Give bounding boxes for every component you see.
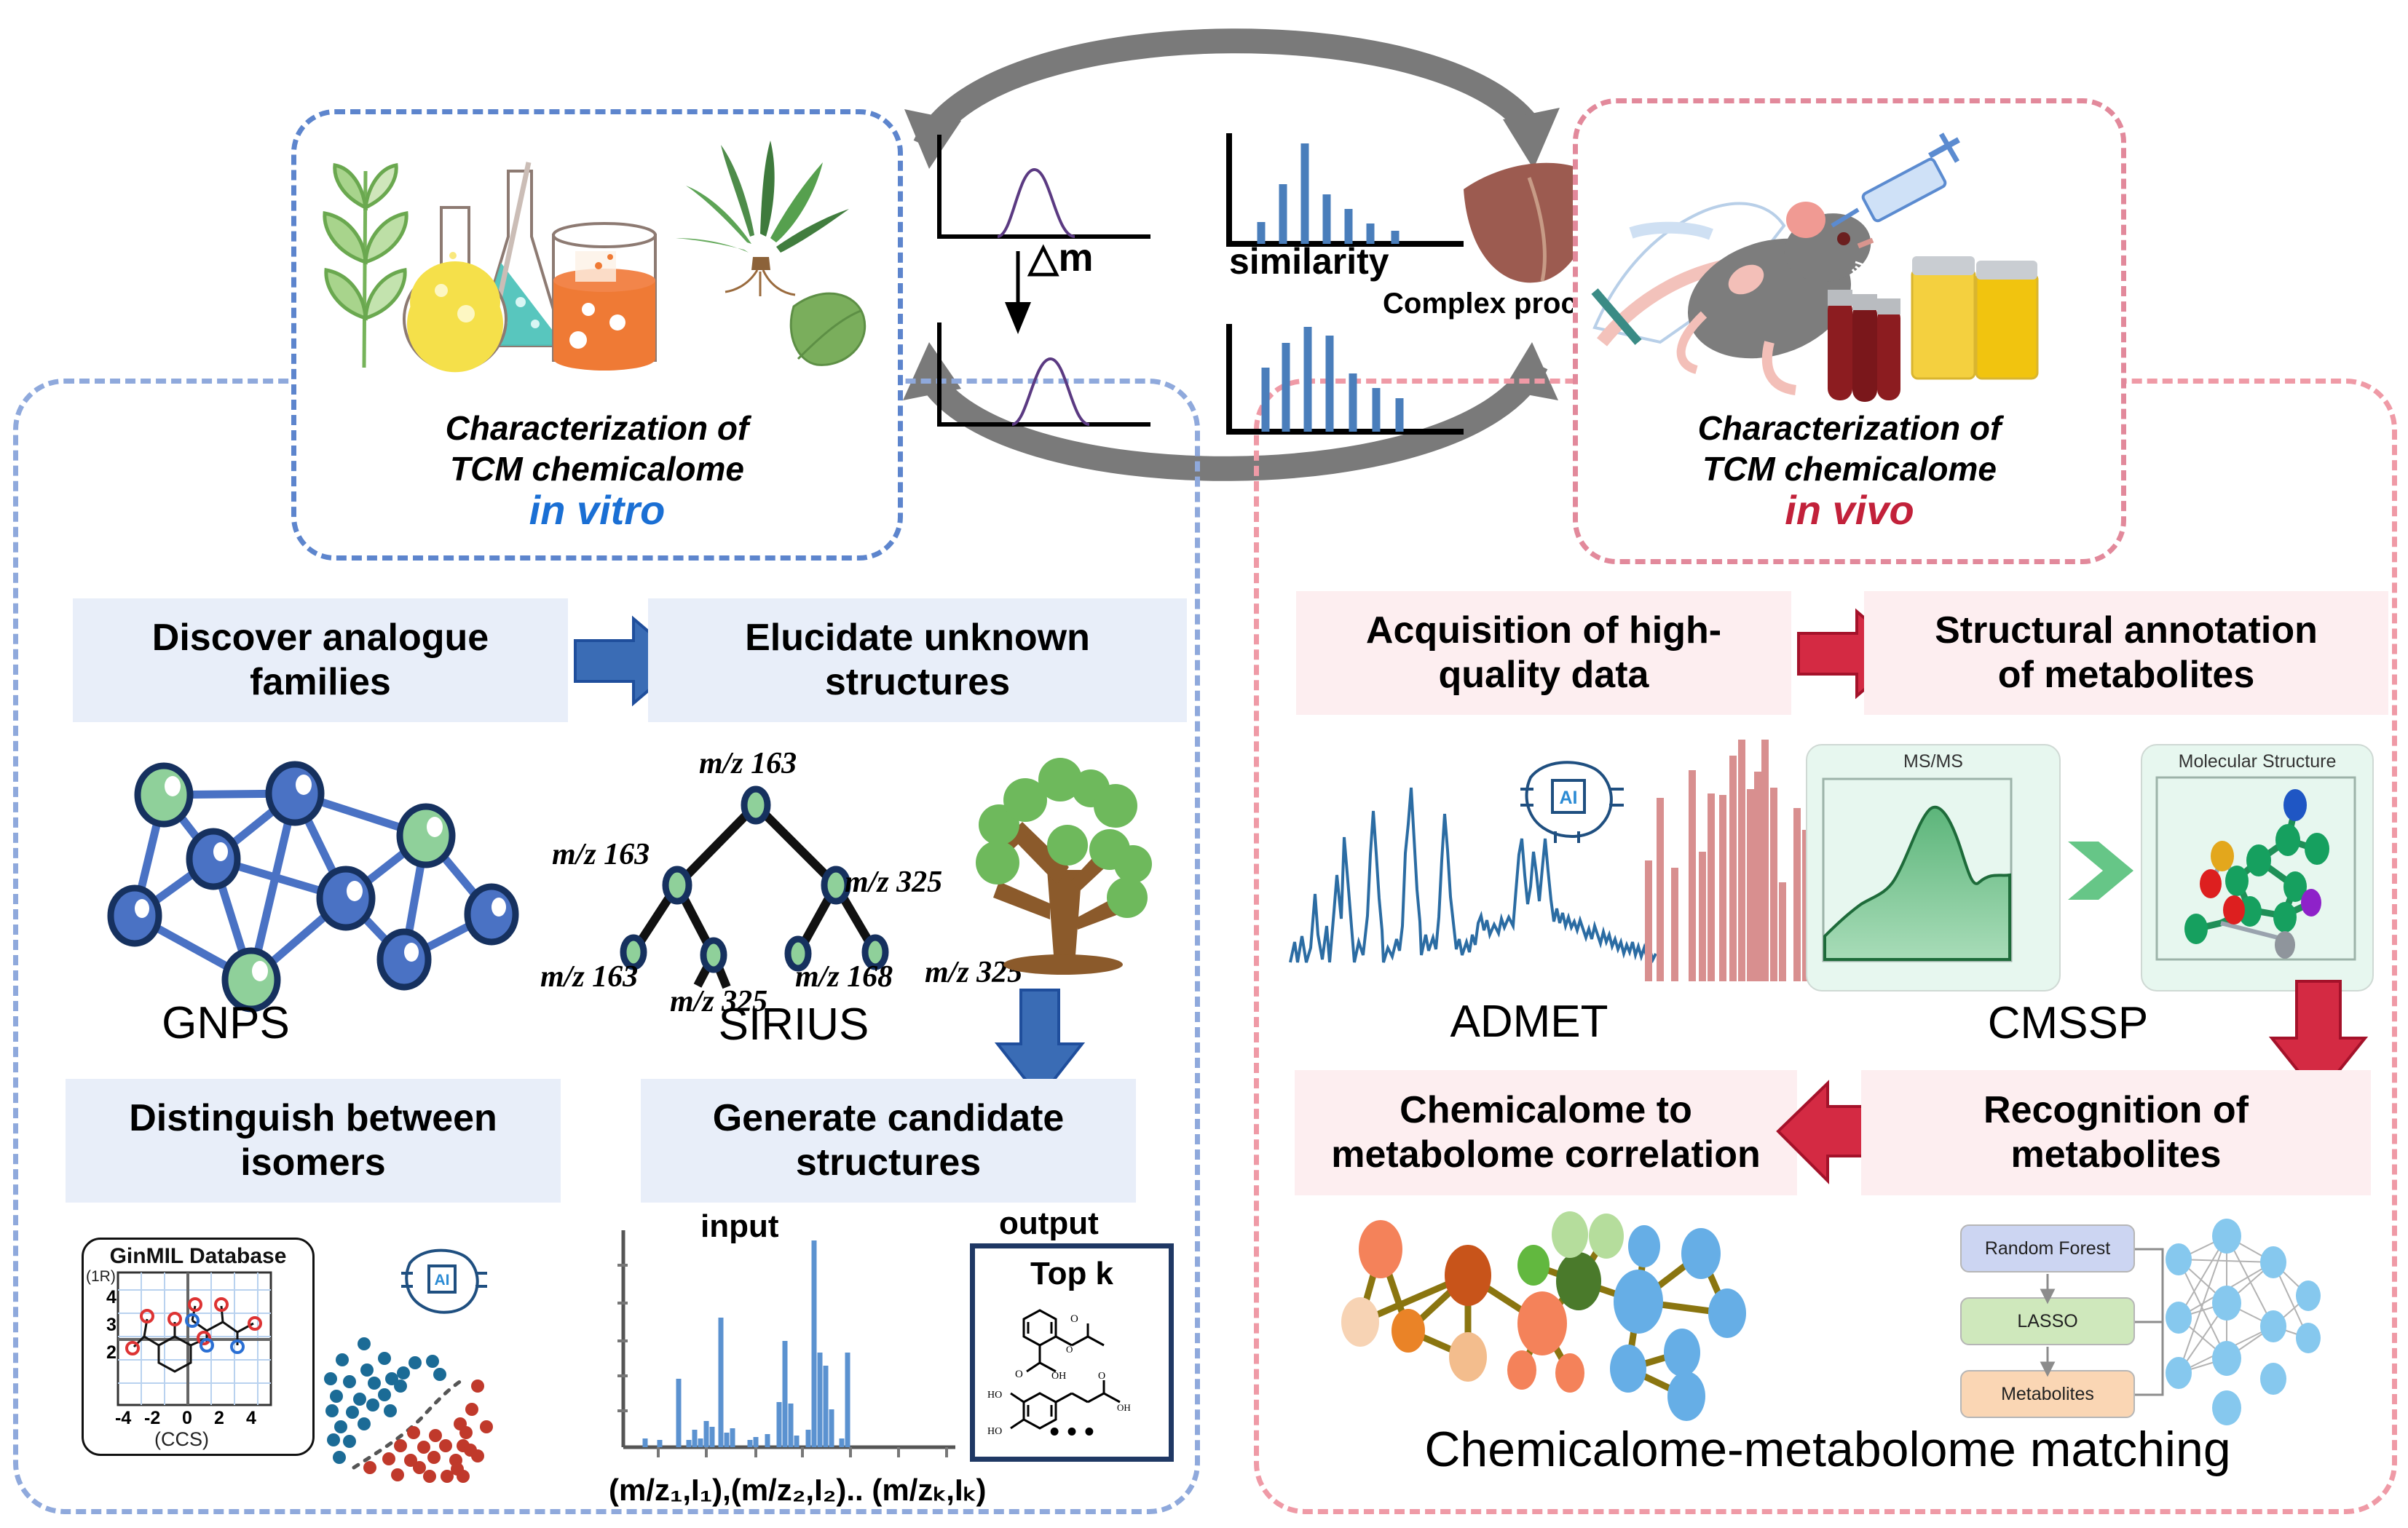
banner-line2: structures xyxy=(796,1141,981,1184)
banner-recognition-of-metabolites: Recognition of metabolites xyxy=(1861,1070,2371,1195)
banner-line1: Structural annotation xyxy=(1935,609,2318,652)
in-vivo-panel-title: Characterization of TCM chemicalome xyxy=(1587,408,2112,489)
banner-structural-annotation-of-metabolites: Structural annotation of metabolites xyxy=(1864,591,2388,715)
banner-line2: of metabolites xyxy=(1998,654,2255,696)
sirius-label: SIRIUS xyxy=(641,999,947,1050)
cmssp-structure-title: Molecular Structure xyxy=(2142,745,2372,772)
svg-text:O: O xyxy=(1070,1313,1078,1325)
in-vivo-title-line2: TCM chemicalome xyxy=(1587,448,2112,489)
banner-distinguish-between-isomers: Distinguish between isomers xyxy=(66,1079,561,1203)
banner-chemicalome-to-metabolome-correlation: Chemicalome to metabolome correlation xyxy=(1295,1070,1797,1195)
sirius-label-root: m/z 163 xyxy=(699,746,797,781)
in-vitro-illustration xyxy=(313,127,881,397)
gnps-network xyxy=(76,750,528,1026)
in-vitro-title-line1: Characterization of xyxy=(306,408,888,448)
banner-line1: Elucidate unknown xyxy=(745,617,1090,659)
banner-line1: Recognition of xyxy=(1983,1089,2249,1131)
cmssp-conversion-arrow xyxy=(2064,830,2144,910)
similarity-label: similarity xyxy=(1229,240,1389,282)
plant-icon xyxy=(325,165,406,368)
ginmil-ytick-4: 4 xyxy=(106,1287,117,1308)
banner-line2: metabolome correlation xyxy=(1331,1133,1760,1176)
banner-elucidate-unknown-structures: Elucidate unknown structures xyxy=(648,598,1187,722)
cmssp-msms-title: MS/MS xyxy=(1807,745,2059,772)
banner-line1: Chemicalome to xyxy=(1400,1089,1692,1131)
delta-m-label: △m xyxy=(1028,234,1094,280)
ginmil-ytick-3: 3 xyxy=(106,1315,117,1336)
ai-chip-icon-left: AI xyxy=(397,1241,492,1321)
candidate-input-label: input xyxy=(700,1208,779,1245)
aloe-plant-icon xyxy=(676,140,849,296)
banner-line2: structures xyxy=(825,661,1010,703)
leaf-icon xyxy=(791,293,864,365)
sirius-label-left: m/z 163 xyxy=(552,837,650,872)
cmssp-label: CMSSP xyxy=(1922,997,2214,1049)
similarity-top-bars xyxy=(1261,143,1395,244)
ginmil-xtick--2: -2 xyxy=(144,1408,160,1429)
ginmil-ytick-2: 2 xyxy=(106,1342,117,1363)
msms-area-plot xyxy=(1816,773,2048,984)
candidate-output-label: output xyxy=(999,1206,1099,1242)
svg-text:O: O xyxy=(1015,1369,1023,1380)
ginmil-xlabel: (CCS) xyxy=(154,1428,209,1451)
banner-line1: Generate candidate xyxy=(713,1097,1065,1139)
banner-line2: isomers xyxy=(240,1141,385,1184)
ai-chip-label: AI xyxy=(435,1272,450,1288)
blood-tube-icon xyxy=(1828,290,1900,402)
ginmil-ylabel: (1R) xyxy=(86,1268,116,1286)
in-vivo-title-line1: Characterization of xyxy=(1587,408,2112,448)
mass-shift-spectra xyxy=(932,127,1172,433)
in-vivo-illustration xyxy=(1587,124,2112,415)
sirius-label-leaf1: m/z 163 xyxy=(540,959,638,994)
banner-line1: Distinguish between xyxy=(129,1097,497,1139)
in-vitro-title-line2: TCM chemicalome xyxy=(306,448,888,489)
topk-ellipsis: • • • xyxy=(970,1417,1174,1448)
in-vivo-tag: in vivo xyxy=(1587,486,2112,534)
gnps-label: GNPS xyxy=(87,997,364,1049)
svg-text:O: O xyxy=(1066,1344,1073,1355)
molecule-3d-icon xyxy=(2152,773,2364,984)
urine-jar-icon xyxy=(1912,256,2037,379)
svg-text:OH: OH xyxy=(1117,1402,1131,1413)
sirius-label-right: m/z 325 xyxy=(845,865,942,900)
in-vitro-panel-title: Characterization of TCM chemicalome xyxy=(306,408,888,489)
syringe-icon xyxy=(1832,134,1959,226)
decorative-tree-icon xyxy=(961,746,1180,979)
ginmil-xtick-0: 0 xyxy=(182,1408,192,1429)
banner-acquisition-of-high-quality-data: Acquisition of high- quality data xyxy=(1296,591,1791,715)
banner-discover-analogue-families: Discover analogue families xyxy=(73,598,568,722)
beaker-icon xyxy=(553,223,655,371)
ai-chip-icon-right: AI xyxy=(1515,751,1631,846)
chemicalome-metabolome-network xyxy=(1338,1214,1892,1433)
banner-line2: families xyxy=(250,661,391,703)
sirius-label-leaf3: m/z 168 xyxy=(795,959,893,994)
candidate-input-spectrum xyxy=(613,1230,963,1470)
ml-pipeline-connectors xyxy=(1960,1216,2368,1434)
svg-text:O: O xyxy=(1098,1371,1105,1382)
admet-label: ADMET xyxy=(1398,996,1660,1048)
ginmil-xtick--4: -4 xyxy=(115,1408,131,1429)
chemicalome-metabolome-matching-caption: Chemicalome-metabolome matching xyxy=(1282,1421,2374,1478)
in-vitro-tag: in vitro xyxy=(306,486,888,534)
ai-chip-label-right: AI xyxy=(1560,788,1578,808)
ginmil-xtick-4: 4 xyxy=(246,1408,256,1429)
similarity-bottom-bars xyxy=(1266,327,1400,432)
candidate-peaklist-label: (m/z₁,I₁),(m/z₂,I₂).. (m/zₖ,Iₖ) xyxy=(609,1472,986,1508)
svg-text:OH: OH xyxy=(1051,1371,1066,1382)
banner-line2: quality data xyxy=(1439,654,1649,696)
banner-line1: Discover analogue xyxy=(152,617,489,659)
svg-text:HO: HO xyxy=(987,1390,1002,1401)
banner-generate-candidate-structures: Generate candidate structures xyxy=(641,1079,1136,1203)
banner-line1: Acquisition of high- xyxy=(1366,609,1721,652)
round-flask-icon xyxy=(404,207,506,372)
banner-line2: metabolites xyxy=(2011,1133,2222,1176)
ginmil-xtick-2: 2 xyxy=(214,1408,224,1429)
isomer-scatter-plot xyxy=(328,1318,583,1507)
admet-chromatogram xyxy=(1290,744,1698,991)
